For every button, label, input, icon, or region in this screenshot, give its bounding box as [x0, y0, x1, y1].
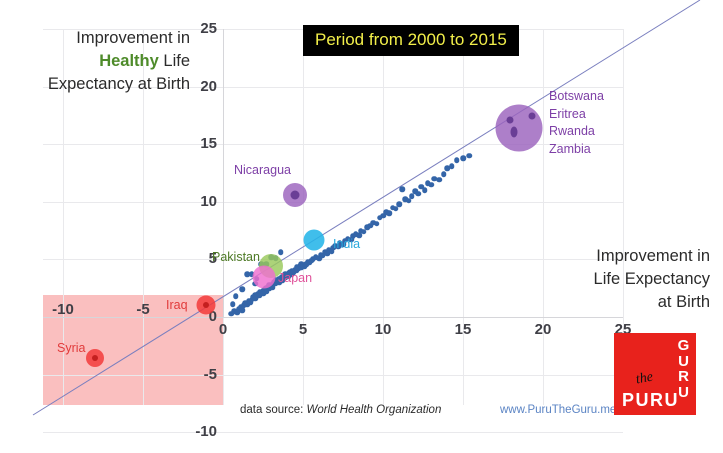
cluster-inner-dot-1: [507, 117, 514, 124]
x-tick-label: 0: [201, 321, 245, 338]
x-tick-label-negative: -10: [41, 301, 85, 318]
x-tick-label-negative: -5: [121, 301, 165, 318]
chart-canvas: -10-505101520250510152025-10-5 Nicaragua…: [0, 0, 723, 453]
cluster-country-3: Rwanda: [549, 123, 604, 141]
label-iraq: Iraq: [166, 298, 188, 312]
website-link[interactable]: www.PuruTheGuru.me: [500, 404, 616, 416]
y-tick-label: -5: [175, 366, 217, 383]
x-axis-title-line3: at Birth: [538, 291, 710, 314]
iraq-inner-dot: [203, 302, 209, 308]
syria-inner-dot: [92, 355, 98, 361]
y-axis-title-line2-rest: Life: [159, 52, 190, 70]
x-axis-title-line2: Life Expectancy: [538, 268, 710, 291]
label-pakistan: Pakistan: [212, 250, 260, 264]
cluster-country-2: Eritrea: [549, 106, 604, 124]
x-axis-title: Improvement in Life Expectancy at Birth: [538, 245, 710, 314]
period-banner: Period from 2000 to 2015: [303, 25, 519, 56]
highlight-bubble-japan[interactable]: [253, 266, 276, 289]
y-tick-label: 15: [175, 135, 217, 152]
logo-the-text: the: [635, 370, 655, 389]
y-tick-label: 5: [175, 250, 217, 267]
x-tick-label: 15: [441, 321, 485, 338]
y-axis-title: Improvement in Healthy Life Expectancy a…: [14, 27, 190, 96]
data-source-value: World Health Organization: [306, 404, 441, 416]
cluster-country-4: Zambia: [549, 141, 604, 159]
x-tick-label: 10: [361, 321, 405, 338]
label-japan: Japan: [278, 271, 312, 285]
cluster-inner-dot-3: [511, 127, 518, 138]
x-axis-title-line1: Improvement in: [538, 245, 710, 268]
y-axis-title-line1: Improvement in: [14, 27, 190, 50]
y-tick-label: -10: [175, 423, 217, 440]
cluster-country-1: Botswana: [549, 88, 604, 106]
data-source-prefix: data source:: [240, 404, 306, 416]
label-nicaragua: Nicaragua: [234, 163, 291, 177]
y-tick-label: 10: [175, 193, 217, 210]
cluster-inner-dot-2: [529, 113, 536, 120]
x-tick-label: 20: [521, 321, 565, 338]
y-axis-title-line3: Expectancy at Birth: [14, 73, 190, 96]
highlight-bubble-india[interactable]: [304, 230, 325, 251]
nicaragua-inner-dot: [291, 191, 300, 200]
y-axis-title-line2: Healthy Life: [14, 50, 190, 73]
data-source-note: data source: World Health Organization: [240, 404, 441, 416]
puru-the-guru-logo[interactable]: GURU the PURU: [614, 333, 696, 415]
highlight-bubble-cluster[interactable]: [496, 105, 543, 152]
x-tick-label: 5: [281, 321, 325, 338]
y-axis-title-highlight: Healthy: [99, 52, 159, 70]
label-india: India: [333, 237, 360, 251]
logo-puru-text: PURU: [622, 390, 679, 411]
label-syria: Syria: [57, 341, 85, 355]
label-cluster-countries: Botswana Eritrea Rwanda Zambia: [549, 88, 604, 158]
